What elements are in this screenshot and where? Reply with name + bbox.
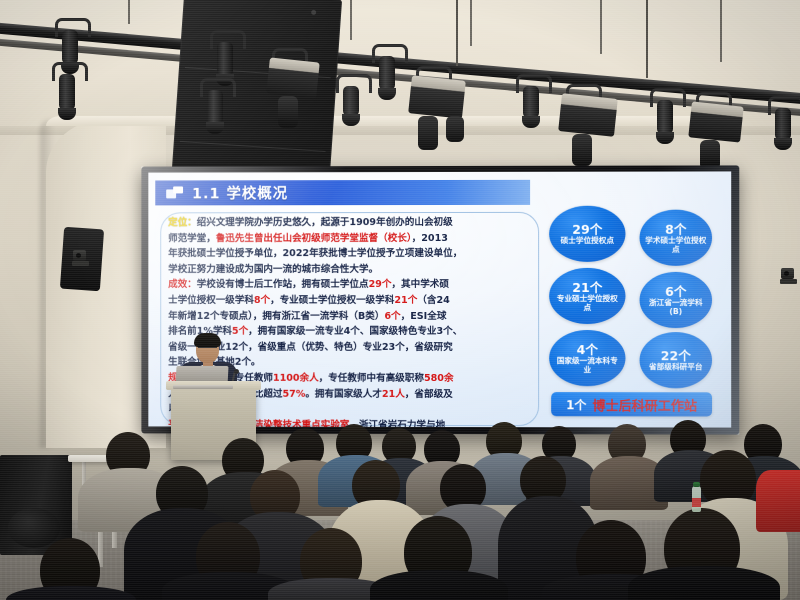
- badge-number: 4个: [577, 343, 598, 356]
- truss-hanger: [350, 0, 352, 40]
- text-segment: 学校正努力建设成为国内一流的城市综合性大学。: [168, 264, 378, 275]
- light-body: [343, 86, 359, 116]
- subwoofer-driver: [8, 508, 60, 548]
- light-body: [408, 75, 466, 118]
- statistic-badge: 29个硕士学位授权点: [549, 206, 625, 262]
- light-body: [657, 100, 673, 134]
- text-segment: ，专任教师中有高级职称: [319, 373, 424, 384]
- highlight-segment: 成效：: [168, 279, 197, 290]
- statistic-badge: 4个国家级一流本科专业: [549, 330, 625, 386]
- highlight-segment: 57%: [283, 388, 306, 399]
- badge-number: 6个: [665, 284, 686, 297]
- laptop-keyboard: [173, 385, 233, 389]
- badge-number: 22个: [661, 349, 691, 362]
- truss-hanger: [128, 0, 130, 24]
- statistic-badge: 22个省部级科研平台: [640, 332, 712, 388]
- text-segment: 士学位授权一级学科: [168, 295, 254, 306]
- banner-label: 博士后科研工作站: [592, 395, 697, 414]
- badge-number: 29个: [572, 223, 602, 236]
- light-lens: [378, 88, 396, 100]
- audience-scarf: [756, 470, 800, 532]
- light-body: [379, 56, 395, 90]
- text-segment: ，拥有国家级一流专业4个、国家级特色专业3个、: [248, 326, 462, 337]
- text-segment: 师范学堂，: [168, 233, 216, 244]
- badge-number: 21个: [572, 280, 602, 293]
- text-segment: ，其中学术硕: [391, 279, 449, 290]
- presenter-hair: [194, 333, 221, 347]
- highlight-segment: 5个: [232, 326, 248, 337]
- light-lens: [58, 108, 76, 120]
- light-lens: [446, 116, 464, 142]
- slide-title-text: 1.1 学校概况: [192, 182, 288, 203]
- highlight-segment: 1100余人: [273, 373, 319, 384]
- slide-text-line: 排名前1%学科5个，拥有国家级一流专业4个、国家级特色专业3个、: [168, 325, 535, 340]
- folder-icon: [166, 186, 183, 199]
- statistic-badge: 8个学术硕士学位授权点: [640, 210, 712, 266]
- text-segment: 学校设有博士后工作站，拥有硕士学位点: [197, 279, 369, 290]
- badge-caption: 学术硕士学位授权点: [640, 235, 712, 253]
- slide-text-line: 学校正努力建设成为国内一流的城市综合性大学。: [168, 263, 535, 278]
- audience-shoulders: [628, 566, 780, 600]
- text-segment: ，2013: [412, 233, 448, 244]
- light-lens: [418, 116, 438, 150]
- statistic-badge: 21个专业硕士学位授权点: [549, 268, 625, 324]
- banner-number: 1个: [566, 396, 586, 413]
- badge-caption: 省部级科研平台: [644, 362, 708, 371]
- light-body: [59, 74, 75, 110]
- truss-hanger: [470, 0, 472, 46]
- truss-hanger: [720, 0, 722, 62]
- microphone-icon: [234, 369, 239, 374]
- text-segment: ，省部级及: [405, 388, 453, 399]
- lecture-hall-screenshot: 1.1 学校概况 定位：绍兴文理学院办学历史悠久，起源于1909年创办的山会初级…: [0, 0, 800, 600]
- slide-title-bar: 1.1 学校概况: [155, 180, 530, 206]
- statistic-badge: 6个浙江省一流学科(B): [640, 272, 712, 328]
- light-lens: [522, 116, 540, 128]
- truss-hanger: [600, 0, 602, 54]
- highlight-segment: 21人: [382, 388, 405, 399]
- highlight-segment: 580余: [424, 373, 454, 384]
- text-segment: ，专业硕士学位授权一级学科: [270, 295, 394, 306]
- light-lens: [278, 96, 298, 128]
- badge-number: 8个: [665, 222, 686, 235]
- light-lens: [572, 134, 592, 166]
- badge-caption: 硕士学位授权点: [556, 236, 619, 245]
- highlight-segment: 21个: [394, 295, 417, 306]
- light-body: [523, 86, 539, 118]
- bottle-cap: [693, 482, 700, 487]
- text-segment: 年新增12个专硕点），拥有浙江省一流学科（B类）: [168, 311, 384, 322]
- text-segment: （含24: [417, 295, 450, 306]
- light-body: [775, 108, 791, 140]
- audience-shoulders: [370, 570, 508, 600]
- text-segment: ，ESI全球: [401, 311, 447, 322]
- highlight-segment: 鲁迅先生曾出任山会初级师范学堂监督（校长）: [216, 233, 412, 244]
- text-segment: 年获批硕士学位授予单位，2022年获批博士学位授予立项建设单位，: [168, 248, 462, 259]
- postdoc-station-banner: 1个博士后科研工作站: [551, 392, 712, 416]
- light-body: [266, 57, 319, 98]
- camera-mount: [72, 261, 89, 266]
- light-body: [62, 30, 78, 64]
- ceiling-cable: [456, 0, 458, 66]
- speaker-bolt: [311, 10, 316, 15]
- ceiling-cable: [646, 0, 648, 78]
- slide-text-line: 成效：学校设有博士后工作站，拥有硕士学位点29个，其中学术硕: [168, 278, 535, 293]
- text-segment: 。拥有国家级人才: [305, 388, 382, 399]
- camera-lens-icon: [76, 253, 81, 258]
- glasses-icon: [198, 347, 217, 352]
- camera-lens-icon: [784, 271, 789, 276]
- camera-mount: [780, 279, 797, 284]
- light-body: [217, 42, 233, 76]
- light-lens: [342, 114, 360, 126]
- highlight-segment: 6个: [384, 311, 400, 322]
- badge-caption: 浙江省一流学科(B): [640, 297, 712, 315]
- light-body: [207, 90, 223, 124]
- slide-text-line: 省级一流专业12个，省级重点（优势、特色）专业23个，省级研究: [168, 341, 535, 356]
- slide-text-line: 年获批硕士学位授予单位，2022年获批博士学位授予立项建设单位，: [168, 247, 535, 262]
- light-body: [558, 93, 618, 137]
- highlight-segment: 定位：: [168, 217, 197, 228]
- slide-text-line: 年新增12个专硕点），拥有浙江省一流学科（B类）6个，ESI全球: [168, 310, 535, 325]
- slide-text-line: 士学位授权一级学科8个，专业硕士学位授权一级学科21个（含24: [168, 294, 535, 309]
- text-segment: 绍兴文理学院办学历史悠久，起源于1909年创办的山会初级: [197, 217, 453, 228]
- highlight-segment: 29个: [369, 279, 392, 290]
- badge-caption: 国家级一流本科专业: [549, 356, 625, 374]
- highlight-segment: 8个: [254, 295, 270, 306]
- light-body: [688, 101, 743, 142]
- slide-text-line: 定位：绍兴文理学院办学历史悠久，起源于1909年创办的山会初级: [168, 216, 535, 231]
- lighting-truss: [0, 0, 800, 140]
- bottle-label: [692, 498, 701, 507]
- slide-text-line: 师范学堂，鲁迅先生曾出任山会初级师范学堂监督（校长），2013: [168, 231, 535, 246]
- speaker-seam: [180, 141, 325, 152]
- badge-caption: 专业硕士学位授权点: [549, 293, 625, 311]
